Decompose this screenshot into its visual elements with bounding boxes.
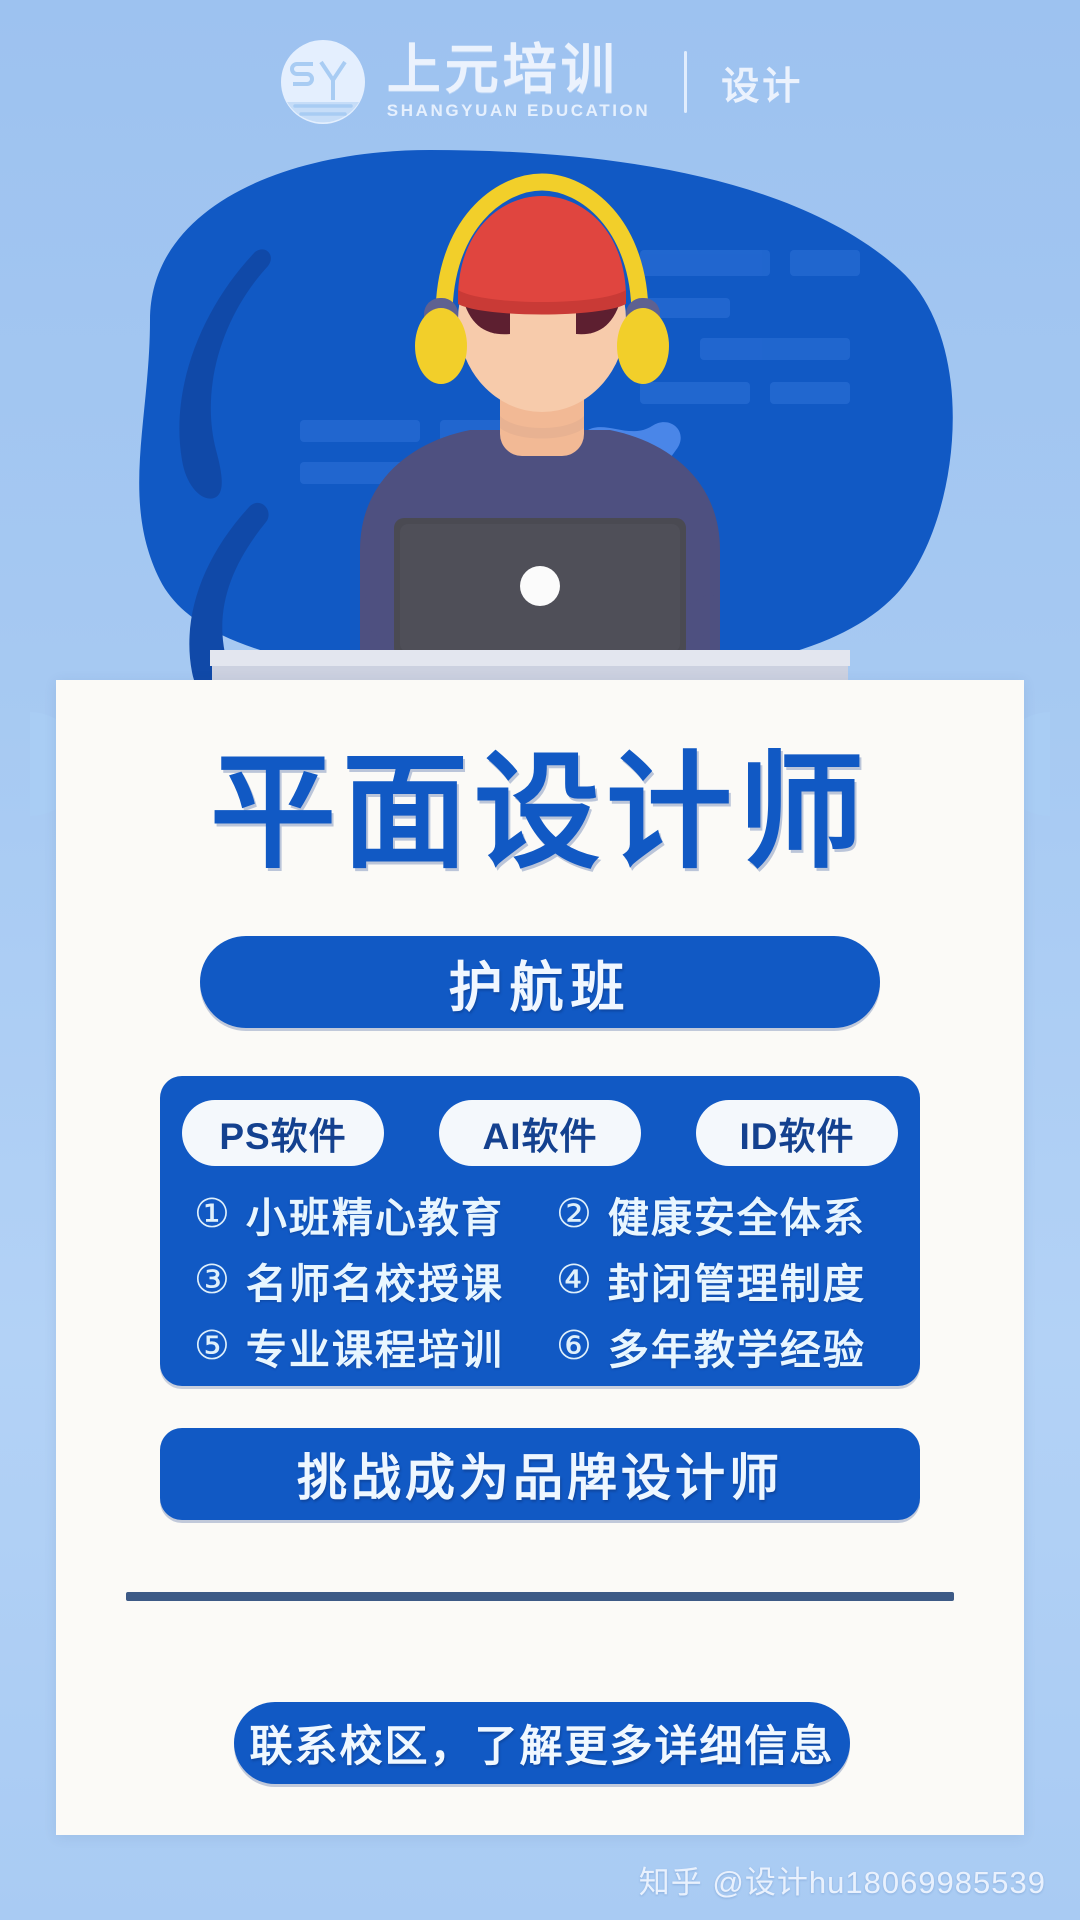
feature-row: ⑤ 专业课程培训 ⑥ 多年教学经验 — [194, 1316, 886, 1376]
brand-name-cn: 上元培训 — [387, 43, 619, 98]
cta-label: 挑战成为品牌设计师 — [297, 1438, 783, 1510]
software-label: AI软件 — [483, 1106, 598, 1160]
brand-divider — [684, 51, 687, 113]
feature-text: 健康安全体系 — [608, 1184, 866, 1244]
contact-label: 联系校区，了解更多详细信息 — [250, 1712, 835, 1774]
software-label: ID软件 — [740, 1106, 855, 1160]
page-title: 平面设计师 — [56, 750, 1024, 876]
feature-text: 小班精心教育 — [246, 1184, 504, 1244]
feature-text: 专业课程培训 — [246, 1316, 504, 1376]
ticket-divider — [126, 1592, 954, 1601]
feature-item: ⑥ 多年教学经验 — [556, 1316, 886, 1376]
feature-number: ① — [194, 1194, 230, 1234]
brand-category: 设计 — [721, 55, 803, 110]
offer-card: 平面设计师 护航班 PS软件 AI软件 ID软件 ① — [56, 680, 1024, 1835]
feature-item: ④ 封闭管理制度 — [556, 1250, 886, 1310]
feature-row: ③ 名师名校授课 ④ 封闭管理制度 — [194, 1250, 886, 1310]
class-type-label: 护航班 — [449, 943, 632, 1022]
feature-number: ③ — [194, 1260, 230, 1300]
contact-button[interactable]: 联系校区，了解更多详细信息 — [234, 1702, 850, 1784]
feature-item: ③ 名师名校授课 — [194, 1250, 524, 1310]
designer-at-laptop-illustration — [0, 120, 1080, 680]
software-label: PS软件 — [219, 1106, 346, 1160]
brand-wordmark: 上元培训 SHANGYUAN EDUCATION — [387, 43, 650, 120]
feature-number: ④ — [556, 1260, 592, 1300]
feature-text: 名师名校授课 — [246, 1250, 504, 1310]
feature-number: ② — [556, 1194, 592, 1234]
feature-row: ① 小班精心教育 ② 健康安全体系 — [194, 1184, 886, 1244]
brand-name-en: SHANGYUAN EDUCATION — [387, 101, 650, 121]
poster-root: 上元培训 SHANGYUAN EDUCATION 设计 — [0, 0, 1080, 1920]
feature-number: ⑥ — [556, 1326, 592, 1366]
feature-item: ① 小班精心教育 — [194, 1184, 524, 1244]
feature-text: 多年教学经验 — [608, 1316, 866, 1376]
software-pill-row: PS软件 AI软件 ID软件 — [160, 1100, 920, 1166]
sy-monogram-icon — [277, 36, 369, 128]
feature-number: ⑤ — [194, 1326, 230, 1366]
class-type-badge: 护航班 — [200, 936, 880, 1028]
software-pill: ID软件 — [696, 1100, 898, 1166]
feature-item: ⑤ 专业课程培训 — [194, 1316, 524, 1376]
brand-header: 上元培训 SHANGYUAN EDUCATION 设计 — [0, 34, 1080, 130]
watermark: 知乎 @设计hu18069985539 — [639, 1857, 1046, 1902]
feature-text: 封闭管理制度 — [608, 1250, 866, 1310]
software-pill: PS软件 — [182, 1100, 384, 1166]
feature-grid: ① 小班精心教育 ② 健康安全体系 ③ 名师名校授课 ④ 封闭管 — [160, 1184, 920, 1376]
software-pill: AI软件 — [439, 1100, 641, 1166]
feature-item: ② 健康安全体系 — [556, 1184, 886, 1244]
features-panel: PS软件 AI软件 ID软件 ① 小班精心教育 ② 健康安全 — [160, 1076, 920, 1386]
cta-banner[interactable]: 挑战成为品牌设计师 — [160, 1428, 920, 1520]
